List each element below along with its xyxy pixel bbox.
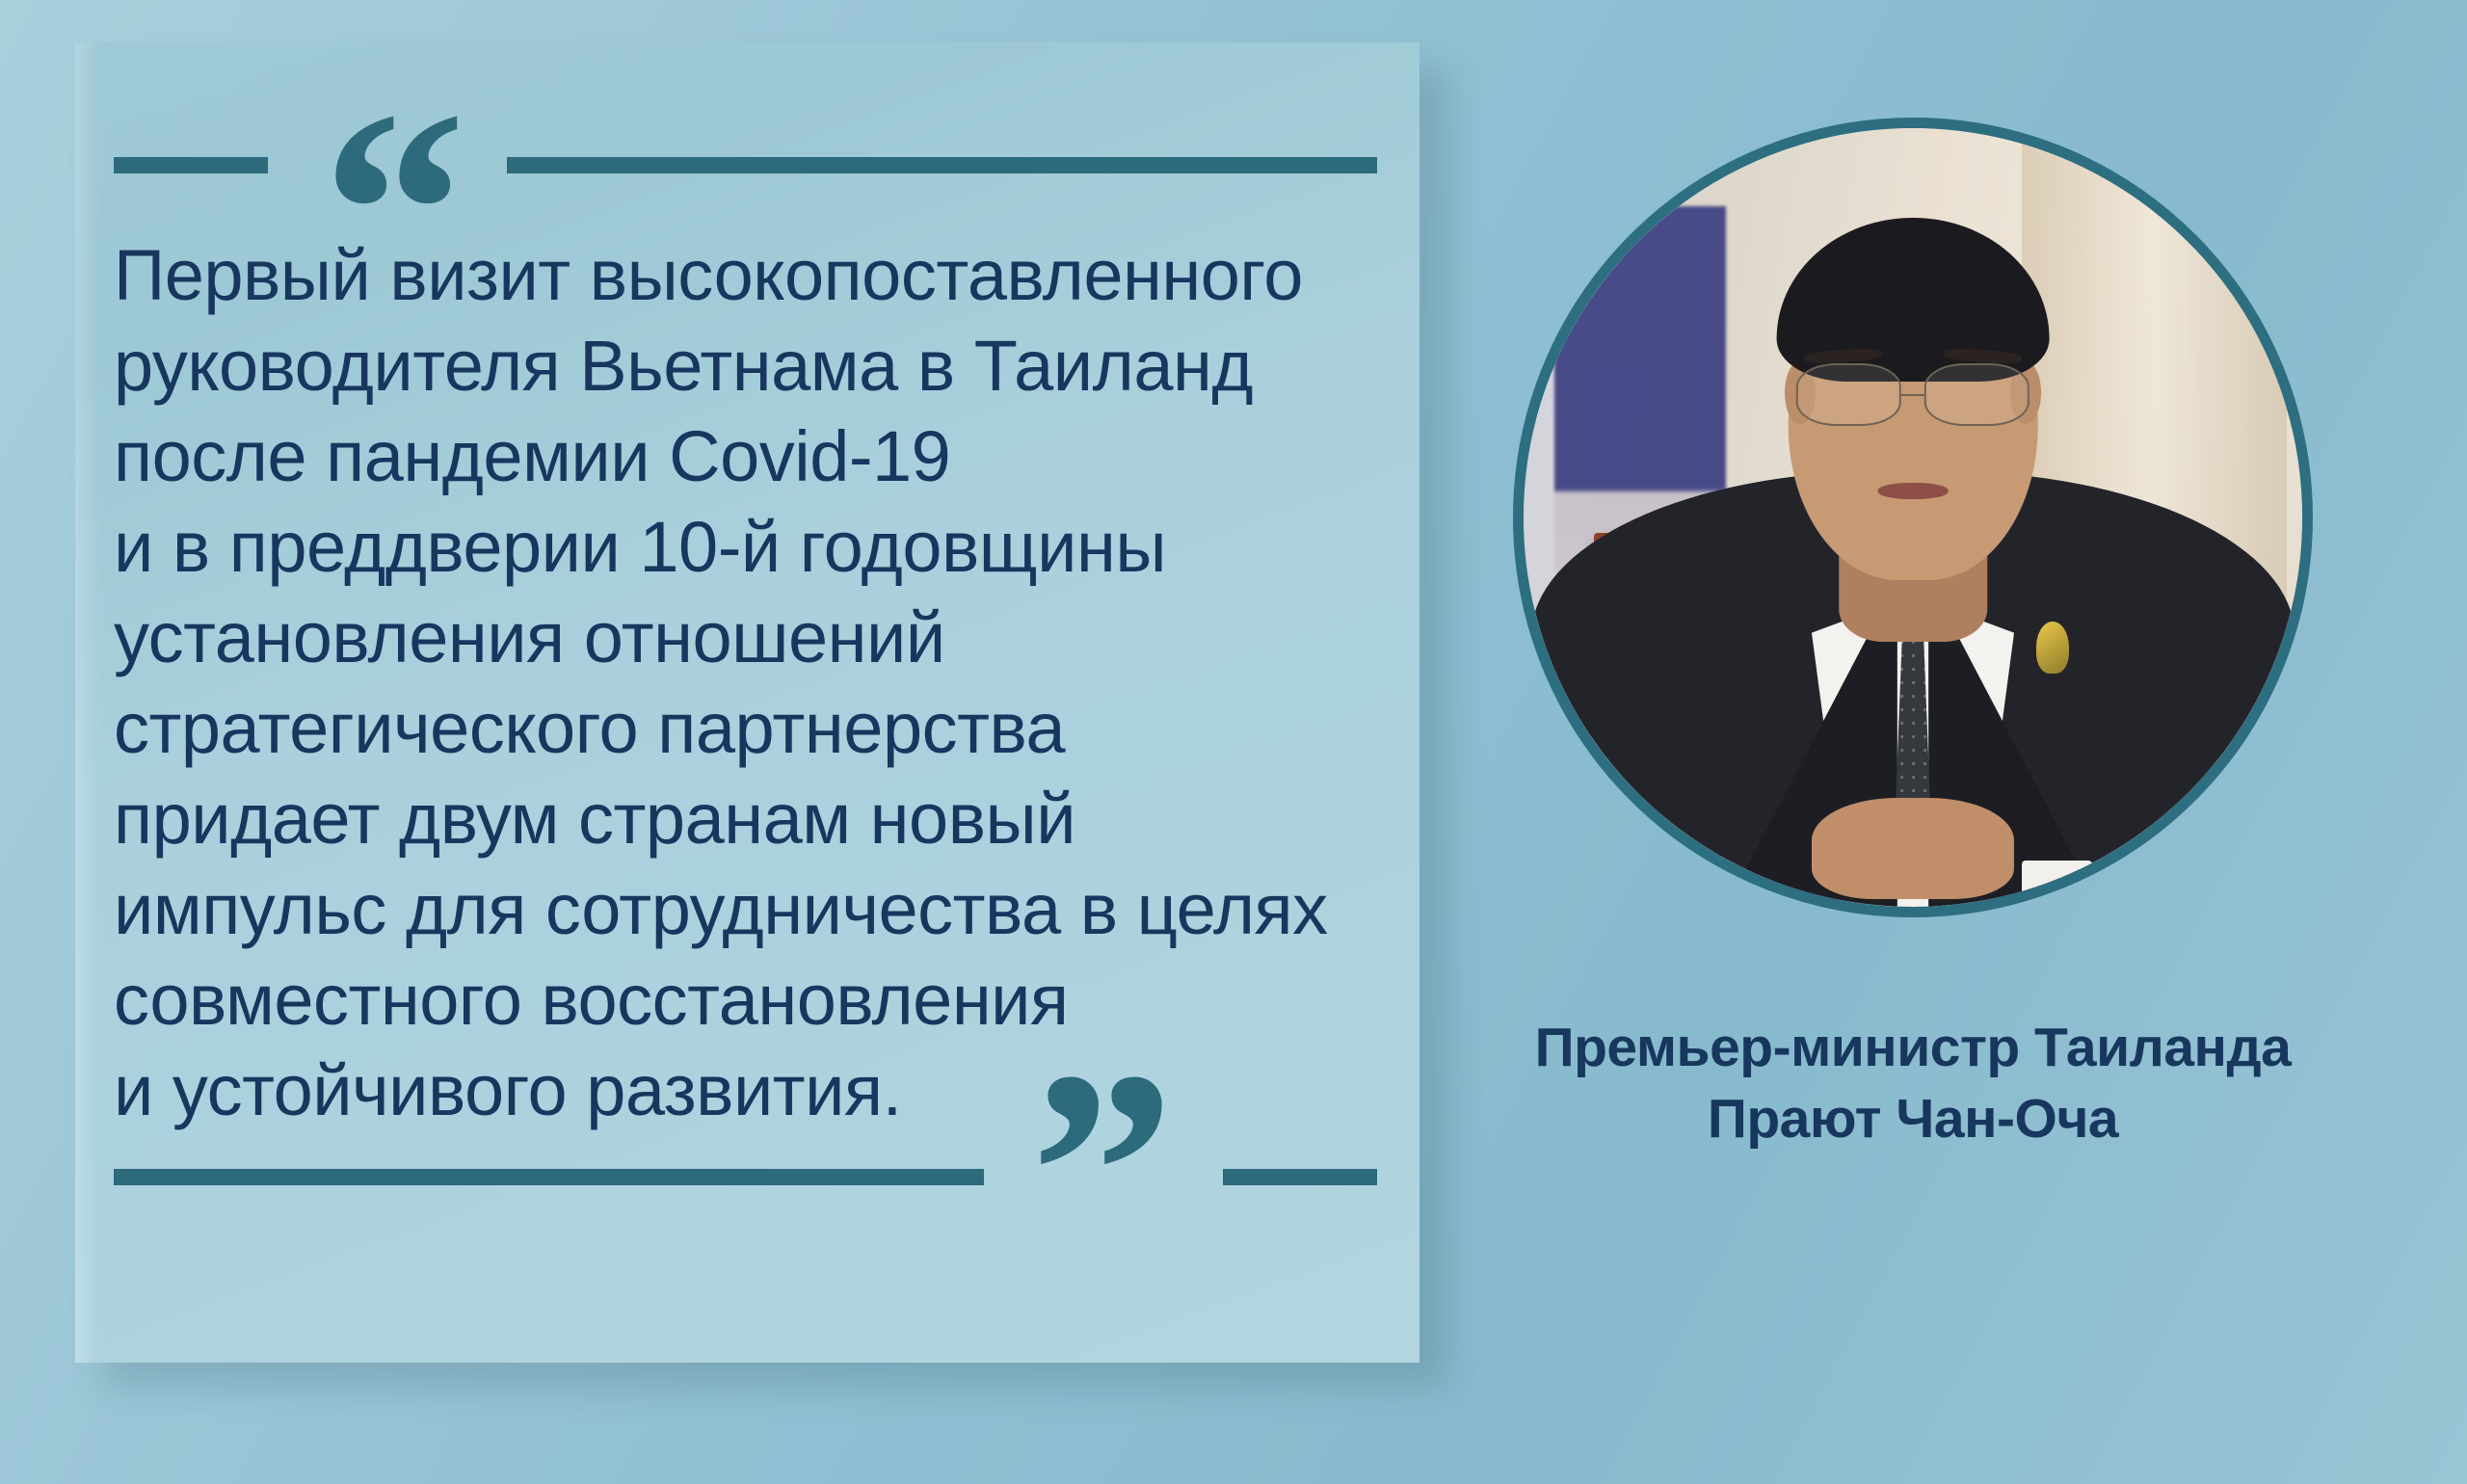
portrait-ring [1513,118,2313,917]
glasses-bridge [1901,394,1924,396]
ornament-rule-long-bottom [114,1169,984,1185]
ornament-rule-short-top [114,157,268,173]
ornament-rule-long-top [507,157,1377,173]
attribution-title: Премьер-министр Таиланда [1455,1012,2371,1083]
close-quote-icon: ” [1030,1157,1169,1186]
quote-text: Первый визит высокопоставленного руковод… [114,230,1391,1136]
person-mouth [1878,483,1949,500]
attribution-name: Прают Чан-Оча [1455,1083,2371,1154]
quote-top-ornament: “ [114,102,1377,227]
portrait-photo [1524,128,2302,907]
ornament-rule-short-bottom [1223,1169,1377,1185]
glasses-icon [1796,365,2029,424]
person-hands [1812,798,2014,899]
attribution: Премьер-министр Таиланда Прают Чан-Оча [1455,1012,2371,1154]
glasses-lens-right [1924,363,2029,426]
portrait [1513,118,2313,917]
quote-card: “ Первый визит высокопоставленного руков… [75,42,1419,1363]
quote-slide: “ Первый визит высокопоставленного руков… [0,0,2467,1484]
open-quote-icon: “ [322,197,461,225]
person-shirt-cuff [2022,861,2092,899]
quote-bottom-ornament: ” [114,1114,1377,1239]
person-lapel-pin [2036,622,2069,673]
glasses-lens-left [1796,363,1901,426]
